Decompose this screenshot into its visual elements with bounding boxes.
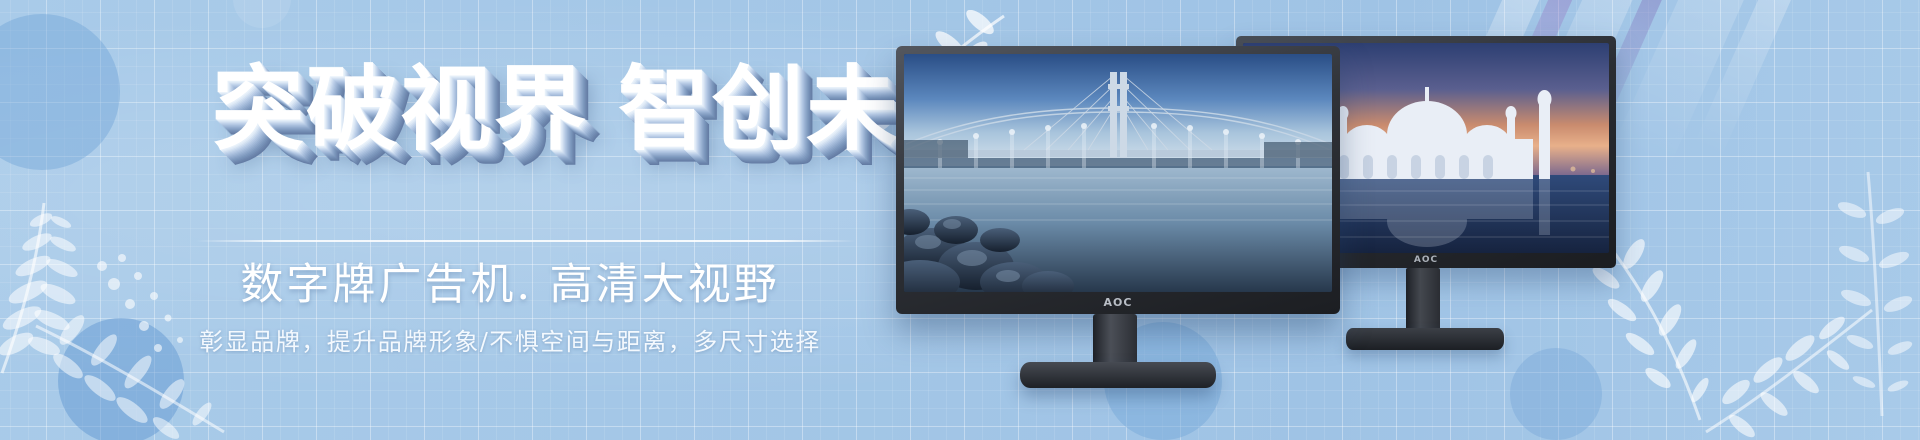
monitor-primary: AOC bbox=[896, 46, 1340, 386]
brand-logo-secondary: AOC bbox=[1414, 255, 1438, 265]
fern-leaf-icon bbox=[1838, 170, 1920, 420]
promo-banner: 突破视界智创未来 数字牌广告机. 高清大视野 彰显品牌，提升品牌形象/不惧空间与… bbox=[0, 0, 1920, 440]
monitor-stand-base bbox=[1020, 362, 1216, 388]
banner-text-block: 突破视界智创未来 数字牌广告机. 高清大视野 彰显品牌，提升品牌形象/不惧空间与… bbox=[0, 0, 920, 440]
headline-part-1: 突破视界 bbox=[212, 56, 588, 163]
subtitle: 数字牌广告机. 高清大视野 bbox=[0, 250, 920, 312]
monitor-screen-bridge bbox=[904, 54, 1332, 292]
brand-logo-primary: AOC bbox=[1104, 296, 1133, 309]
tagline: 彰显品牌，提升品牌形象/不惧空间与距离，多尺寸选择 bbox=[0, 322, 920, 357]
decorative-circle-icon bbox=[1510, 348, 1602, 440]
monitor-stand-base bbox=[1346, 328, 1504, 350]
page-title: 突破视界智创未来 bbox=[212, 64, 912, 156]
divider bbox=[196, 240, 856, 242]
monitor-stand-neck bbox=[1406, 268, 1440, 334]
monitor-bezel: AOC bbox=[896, 46, 1340, 314]
